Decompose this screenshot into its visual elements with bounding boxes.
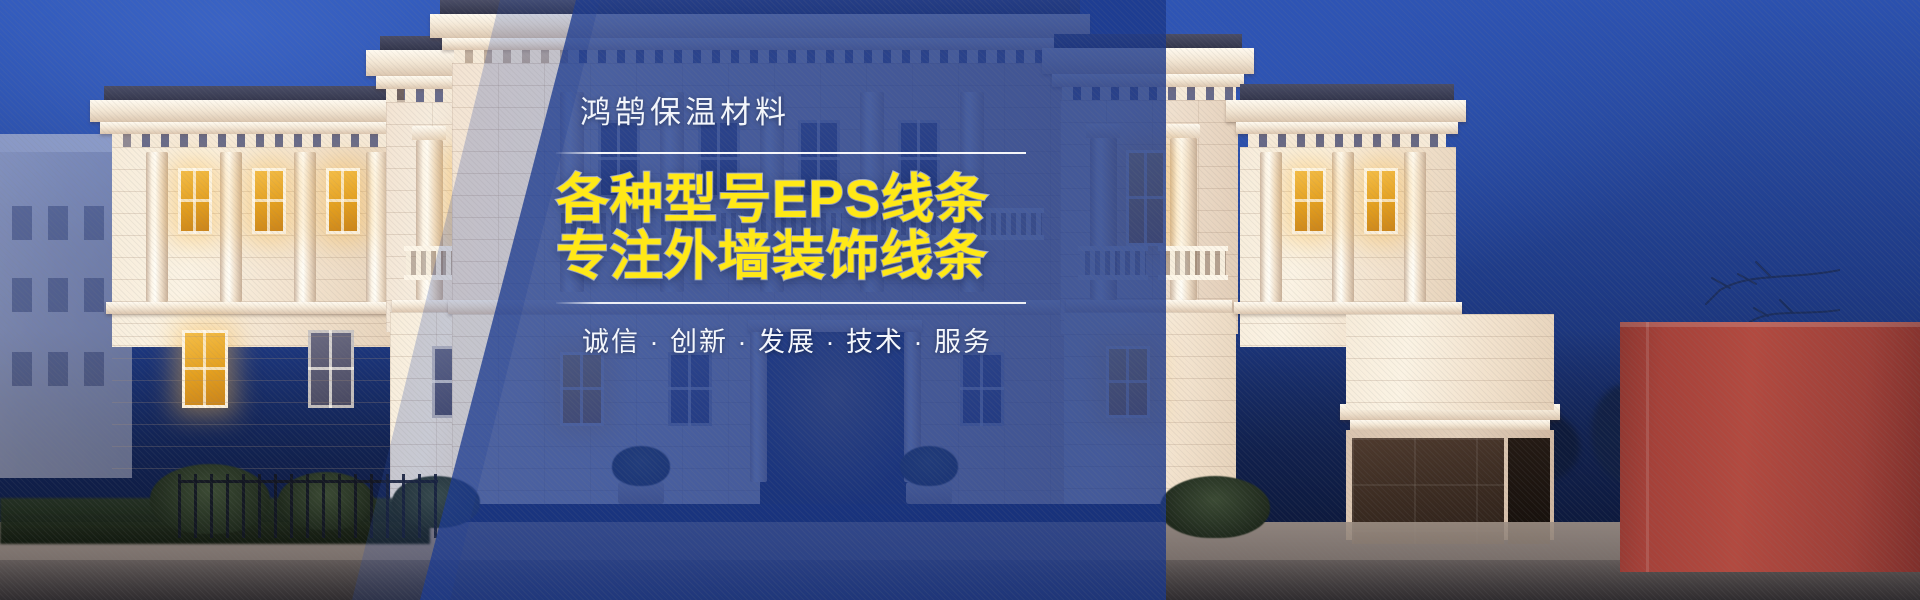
headline-line-2: 专注外墙装饰线条 [556,229,1026,286]
headline-line-1: 各种型号EPS线条 [556,170,989,229]
banner-copy-block: 鸿鹄保温材料 各种型号EPS线条 专注外墙装饰线条 诚信 · 创新 · 发展 ·… [556,96,1026,359]
hero-banner: 鸿鹄保温材料 各种型号EPS线条 专注外墙装饰线条 诚信 · 创新 · 发展 ·… [0,0,1920,600]
headline: 各种型号EPS线条 专注外墙装饰线条 [556,172,1026,285]
shrub [1160,476,1270,538]
divider-lower [556,302,1026,304]
red-wall-panel [1620,322,1920,572]
divider-upper [556,152,1026,154]
tagline: 诚信 · 创新 · 发展 · 技术 · 服务 [556,320,1026,359]
brand-name: 鸿鹄保温材料 [556,96,1026,130]
